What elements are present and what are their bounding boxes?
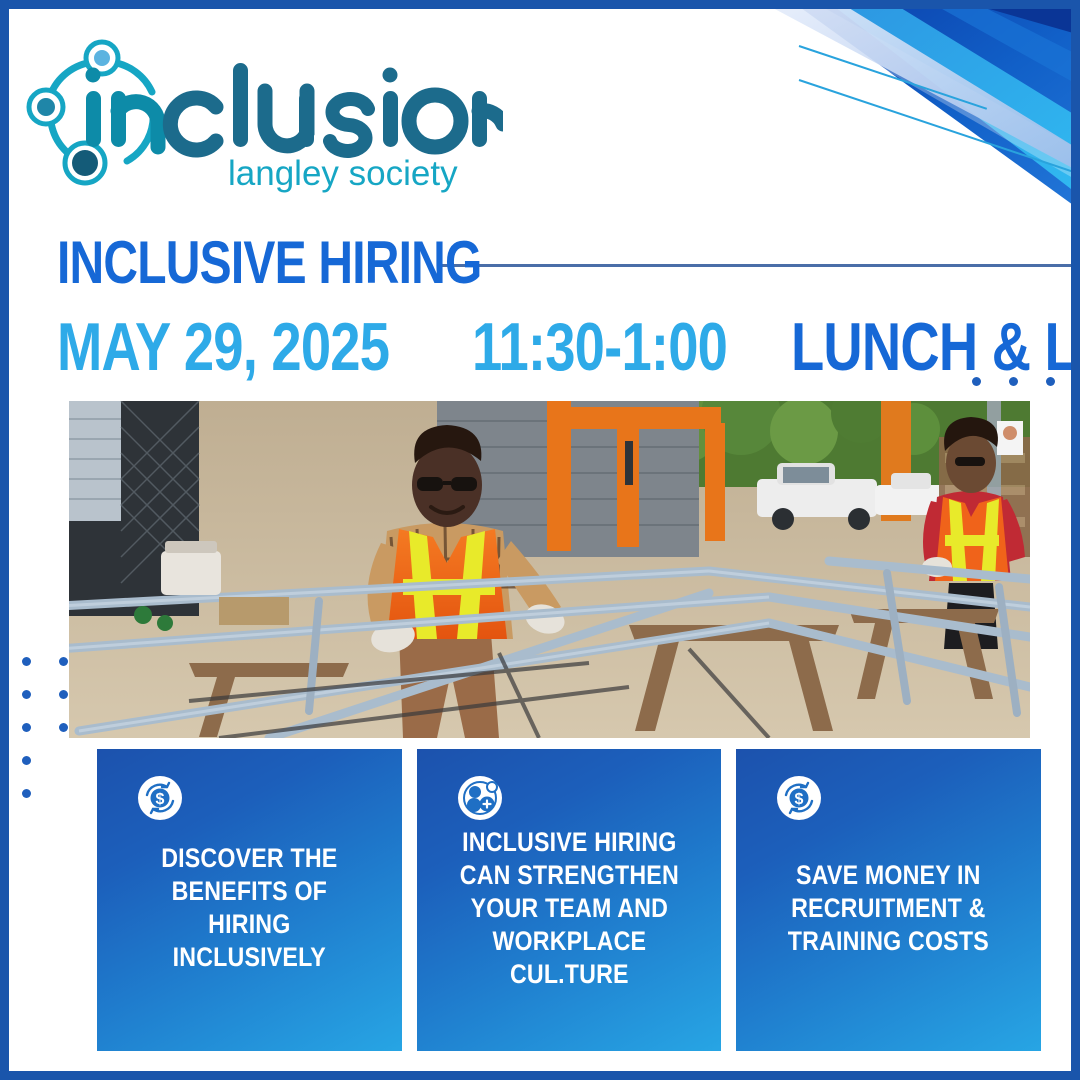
benefit-card[interactable]: INCLUSIVE HIRING CAN STRENGTHEN YOUR TEA… xyxy=(417,749,722,1051)
svg-text:$: $ xyxy=(156,791,165,808)
dot-accent xyxy=(22,723,31,732)
dot-grid-decoration xyxy=(22,657,68,822)
title-divider-rule xyxy=(438,264,1080,267)
dot-accent xyxy=(22,690,31,699)
event-type: LUNCH & LEARN xyxy=(791,313,1080,381)
headline-block: INCLUSIVE HIRING MAY 29, 2025 11:30-1:00… xyxy=(57,231,1080,381)
money-cycle-icon: $ xyxy=(137,775,183,821)
benefit-card-text: SAVE MONEY IN RECRUITMENT & TRAINING COS… xyxy=(773,859,1004,958)
dot-accent xyxy=(59,657,68,666)
dot-grid-row xyxy=(22,756,68,765)
svg-text:$: $ xyxy=(795,791,804,808)
dot-grid-row xyxy=(22,723,68,732)
dot-accent xyxy=(1046,377,1055,386)
dot-grid-row xyxy=(22,690,68,699)
money-cycle-icon: $ xyxy=(776,775,822,821)
dot-accent-row xyxy=(972,377,1055,386)
dot-accent xyxy=(22,789,31,798)
benefits-card-row: $ DISCOVER THE BENEFITS OF HIRING INCLUS… xyxy=(97,749,1041,1051)
event-details-row: MAY 29, 2025 11:30-1:00 LUNCH & LEARN xyxy=(57,313,1080,381)
logo-tagline: langley society xyxy=(228,154,458,193)
corner-swoosh-decoration xyxy=(640,0,1080,240)
kicker-row: INCLUSIVE HIRING xyxy=(57,231,1080,295)
inclusion-langley-society-logo: langley society xyxy=(23,33,503,193)
accent-line-top xyxy=(799,45,987,110)
dot-accent xyxy=(59,690,68,699)
event-date: MAY 29, 2025 xyxy=(57,313,389,381)
dot-accent xyxy=(22,657,31,666)
benefit-card-text: INCLUSIVE HIRING CAN STRENGTHEN YOUR TEA… xyxy=(453,826,684,991)
accent-line-bottom xyxy=(799,79,1080,182)
dot-accent xyxy=(972,377,981,386)
benefit-card-text-wrap: SAVE MONEY IN RECRUITMENT & TRAINING COS… xyxy=(754,821,1023,1025)
dot-grid-row xyxy=(22,657,68,666)
benefit-card-text-wrap: INCLUSIVE HIRING CAN STRENGTHEN YOUR TEA… xyxy=(435,821,704,1025)
benefit-card[interactable]: $ DISCOVER THE BENEFITS OF HIRING INCLUS… xyxy=(97,749,402,1051)
event-time: 11:30-1:00 xyxy=(472,313,727,381)
dot-accent xyxy=(59,723,68,732)
event-photo xyxy=(69,401,1030,738)
poster-canvas: langley society INCLUSIVE HIRING MAY 29,… xyxy=(0,0,1080,1080)
dot-accent xyxy=(1009,377,1018,386)
dot-accent xyxy=(22,756,31,765)
benefit-card[interactable]: $ SAVE MONEY IN RECRUITMENT & TRAINING C… xyxy=(736,749,1041,1051)
dot-grid-row xyxy=(22,789,68,798)
benefit-card-text-wrap: DISCOVER THE BENEFITS OF HIRING INCLUSIV… xyxy=(115,821,384,1025)
add-people-icon xyxy=(457,775,503,821)
benefit-card-text: DISCOVER THE BENEFITS OF HIRING INCLUSIV… xyxy=(134,842,365,974)
page-title: INCLUSIVE HIRING xyxy=(57,233,482,293)
